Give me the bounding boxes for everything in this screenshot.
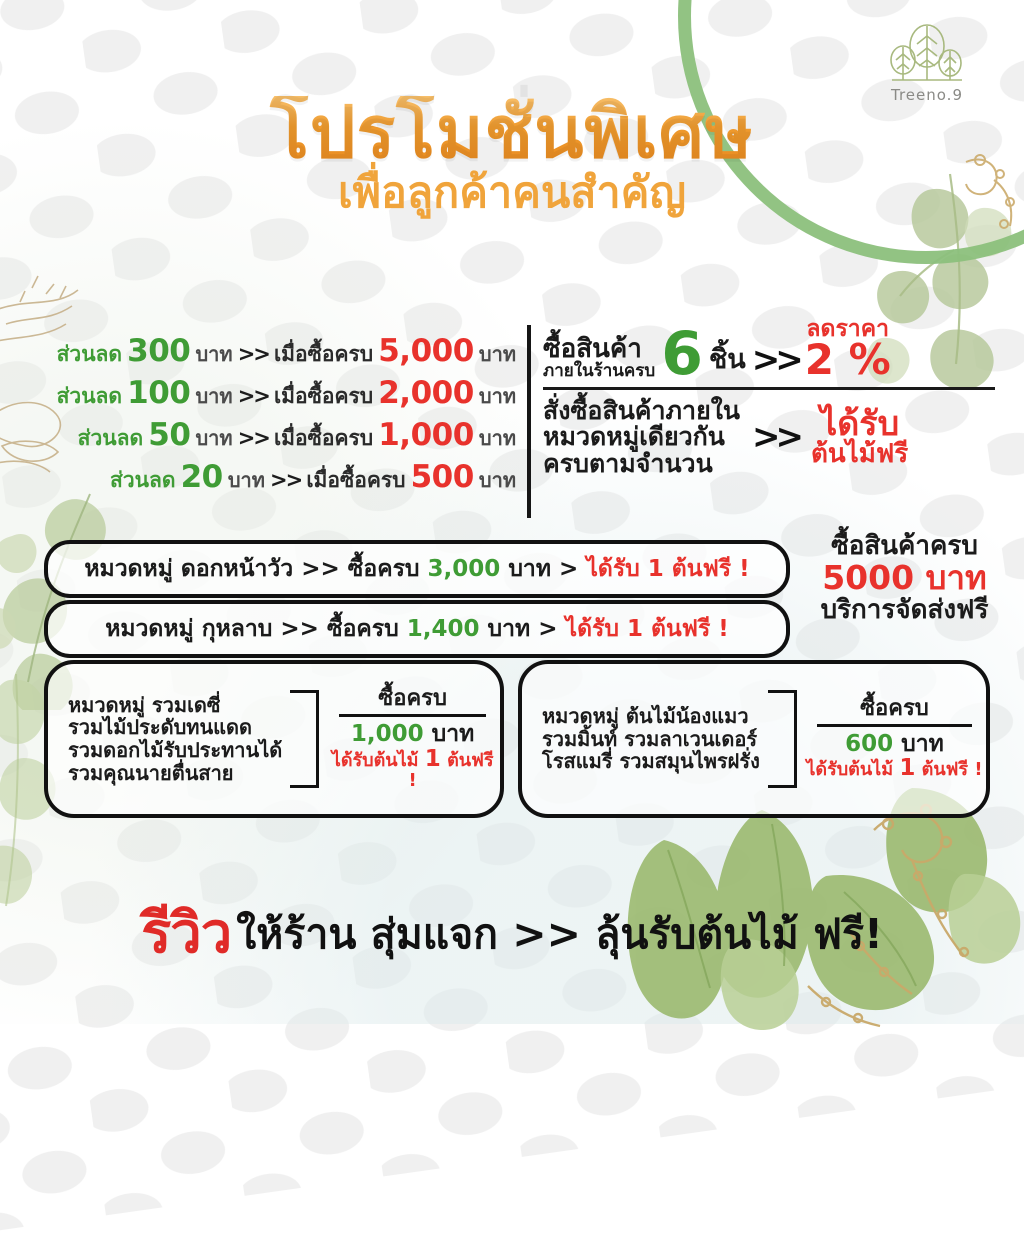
discount-threshold-unit: บาท xyxy=(479,426,516,450)
page-title: โปรโมชั่นพิเศษ xyxy=(0,96,1024,169)
shipping-line1: ซื้อสินค้าครบ xyxy=(797,532,1012,560)
category-reward: ได้รับ 1 ต้นฟรี ! xyxy=(586,556,749,582)
promo-bottom-reward2: ต้นไม้ฟรี xyxy=(811,441,908,468)
promo-top-line1: ซื้อสินค้า xyxy=(543,336,655,362)
promo-top-arrow: >> xyxy=(752,340,799,380)
discount-threshold: 5,000 xyxy=(378,333,474,369)
bundle-line: รวมดอกไม้รับประทานได้ xyxy=(68,739,282,762)
bundle-line: รวมไม้ประดับทนแดด xyxy=(68,716,282,739)
discount-unit: บาท xyxy=(195,426,232,450)
shipping-amount: 5000 บาท xyxy=(797,560,1012,596)
discount-condition: เมื่อซื้อครบ xyxy=(306,468,405,492)
discount-unit: บาท xyxy=(195,342,232,366)
header-block: โปรโมชั่นพิเศษ เพื่อลูกค้าคนสำคัญ xyxy=(0,96,1024,217)
three-trees-icon xyxy=(884,22,970,88)
promo-panel: ซื้อสินค้า ภายในร้านครบ 6 ชิ้น >> ลดราคา… xyxy=(543,318,995,477)
category-row: หมวดหมู่ ดอกหน้าวัว >> ซื้อครบ 3,000 บาท… xyxy=(44,540,790,598)
promo-panel-rule xyxy=(543,387,995,390)
discount-threshold: 500 xyxy=(411,459,474,495)
promo-bottom-line3: ครบตามจำนวน xyxy=(543,451,740,478)
bundle-buy-label: ซื้อครบ xyxy=(325,687,500,711)
promo-quantity-rule: ซื้อสินค้า ภายในร้านครบ 6 ชิ้น >> ลดราคา… xyxy=(543,318,995,380)
cta-rest-text: ให้ร้าน สุ่มแจก >> ลุ้นรับต้นไม้ ฟรี! xyxy=(236,910,883,958)
free-shipping-note: ซื้อสินค้าครบ 5000 บาท บริการจัดส่งฟรี xyxy=(797,532,1012,624)
discount-ladder-row: ส่วนลด 50 บาท >> เมื่อซื้อครบ 1,000 บาท xyxy=(44,420,516,451)
bundle-reward-count: 1 xyxy=(425,746,441,772)
discount-ladder-row: ส่วนลด 20 บาท >> เมื่อซื้อครบ 500 บาท xyxy=(44,462,516,493)
discount-threshold: 1,000 xyxy=(378,417,474,453)
vertical-divider xyxy=(527,325,531,518)
page-subtitle: เพื่อลูกค้าคนสำคัญ xyxy=(0,171,1024,216)
bundle-rule xyxy=(817,724,972,727)
category-unit: บาท xyxy=(508,556,551,582)
discount-amount: 50 xyxy=(148,417,190,453)
promo-bottom-line2: หมวดหมู่เดียวกัน xyxy=(543,424,740,451)
promo-discount-value: 2 % xyxy=(805,341,891,380)
bundle-box: หมวดหมู่ ต้นไม้น้องแมว รวมมิ้นท์ รวมลาเว… xyxy=(518,660,990,818)
cta-review-word: รีวิว xyxy=(141,901,231,966)
discount-condition: เมื่อซื้อครบ xyxy=(274,426,373,450)
category-row: หมวดหมู่ กุหลาบ >> ซื้อครบ 1,400 บาท > ไ… xyxy=(44,600,790,658)
category-amount: 1,400 xyxy=(407,616,480,642)
category-reward: ได้รับ 1 ต้นฟรี ! xyxy=(566,616,729,642)
discount-arrow: >> xyxy=(238,342,269,366)
bundle-line: หมวดหมู่ ต้นไม้น้องแมว xyxy=(542,705,760,728)
bundle-reward: ซื้อครบ 1,000 บาท ได้รับต้นไม้ 1 ต้นฟรี … xyxy=(325,687,500,791)
discount-amount: 300 xyxy=(127,333,190,369)
discount-amount: 100 xyxy=(127,375,190,411)
bundle-amount: 1,000 xyxy=(351,721,424,747)
bundle-bracket xyxy=(290,690,319,788)
bundle-reward-prefix: ได้รับต้นไม้ xyxy=(806,759,893,780)
promo-category-rule: สั่งซื้อสินค้าภายใน หมวดหมู่เดียวกัน ครบ… xyxy=(543,398,995,478)
category-buy: ซื้อครบ xyxy=(348,556,420,582)
category-arrow: >> xyxy=(301,556,340,582)
discount-condition: เมื่อซื้อครบ xyxy=(274,342,373,366)
bundle-line: รวมมิ้นท์ รวมลาเวนเดอร์ xyxy=(542,728,760,751)
discount-ladder: ส่วนลด 300 บาท >> เมื่อซื้อครบ 5,000 บาท… xyxy=(44,336,516,504)
category-unit: บาท xyxy=(488,616,531,642)
discount-unit: บาท xyxy=(228,468,265,492)
discount-threshold: 2,000 xyxy=(378,375,474,411)
bundle-reward-prefix: ได้รับต้นไม้ xyxy=(332,750,419,771)
bundle-rule xyxy=(339,714,486,717)
discount-arrow: >> xyxy=(270,468,301,492)
bundle-reward-count: 1 xyxy=(899,755,915,781)
discount-label: ส่วนลด xyxy=(78,426,143,450)
promo-bottom-reward1: ได้รับ xyxy=(811,407,908,442)
discount-condition: เมื่อซื้อครบ xyxy=(274,384,373,408)
discount-threshold-unit: บาท xyxy=(479,342,516,366)
bundle-line: หมวดหมู่ รวมเดซี่ xyxy=(68,694,282,717)
discount-label: ส่วนลด xyxy=(110,468,175,492)
bundle-category-list: หมวดหมู่ รวมเดซี่ รวมไม้ประดับทนแดด รวมด… xyxy=(48,694,282,784)
category-amount: 3,000 xyxy=(428,556,501,582)
category-mid-arrow: > xyxy=(559,556,578,582)
discount-arrow: >> xyxy=(238,426,269,450)
bundle-category-list: หมวดหมู่ ต้นไม้น้องแมว รวมมิ้นท์ รวมลาเว… xyxy=(522,705,760,773)
category-mid-arrow: > xyxy=(538,616,557,642)
discount-label: ส่วนลด xyxy=(57,384,122,408)
discount-unit: บาท xyxy=(195,384,232,408)
promo-quantity-unit: ชิ้น xyxy=(709,337,746,380)
discount-ladder-row: ส่วนลด 100 บาท >> เมื่อซื้อครบ 2,000 บาท xyxy=(44,378,516,409)
bundle-unit: บาท xyxy=(432,721,475,747)
discount-label: ส่วนลด xyxy=(57,342,122,366)
bundle-line: โรสแมรี่ รวมสมุนไพรฝรั่ง xyxy=(542,750,760,773)
shipping-line3: บริการจัดส่งฟรี xyxy=(797,596,1012,624)
category-arrow: >> xyxy=(280,616,319,642)
bundle-box: หมวดหมู่ รวมเดซี่ รวมไม้ประดับทนแดด รวมด… xyxy=(44,660,504,818)
discount-threshold-unit: บาท xyxy=(479,468,516,492)
discount-amount: 20 xyxy=(181,459,223,495)
promo-quantity-value: 6 xyxy=(661,329,703,380)
review-cta: รีวิว ให้ร้าน สุ่มแจก >> ลุ้นรับต้นไม้ ฟ… xyxy=(0,888,1024,977)
bundle-bracket xyxy=(768,690,797,788)
bundle-buy-label: ซื้อครบ xyxy=(803,697,986,721)
discount-threshold-unit: บาท xyxy=(479,384,516,408)
bundle-reward: ซื้อครบ 600 บาท ได้รับต้นไม้ 1 ต้นฟรี ! xyxy=(803,697,986,781)
bundle-reward-suffix: ต้นฟรี ! xyxy=(922,759,983,780)
promo-bottom-arrow: >> xyxy=(752,417,799,457)
promo-bottom-line1: สั่งซื้อสินค้าภายใน xyxy=(543,398,740,425)
brand-logo: Treeno.9 xyxy=(872,22,982,104)
bundle-line: รวมคุณนายตื่นสาย xyxy=(68,762,282,785)
discount-arrow: >> xyxy=(238,384,269,408)
category-prefix: หมวดหมู่ กุหลาบ xyxy=(105,616,272,642)
bundle-reward-suffix: ต้นฟรี ! xyxy=(409,750,494,792)
discount-ladder-row: ส่วนลด 300 บาท >> เมื่อซื้อครบ 5,000 บาท xyxy=(44,336,516,367)
bundle-amount: 600 xyxy=(845,731,893,757)
category-buy: ซื้อครบ xyxy=(327,616,399,642)
bundle-unit: บาท xyxy=(901,731,944,757)
category-prefix: หมวดหมู่ ดอกหน้าวัว xyxy=(84,556,293,582)
promo-top-line2: ภายในร้านครบ xyxy=(543,363,655,380)
